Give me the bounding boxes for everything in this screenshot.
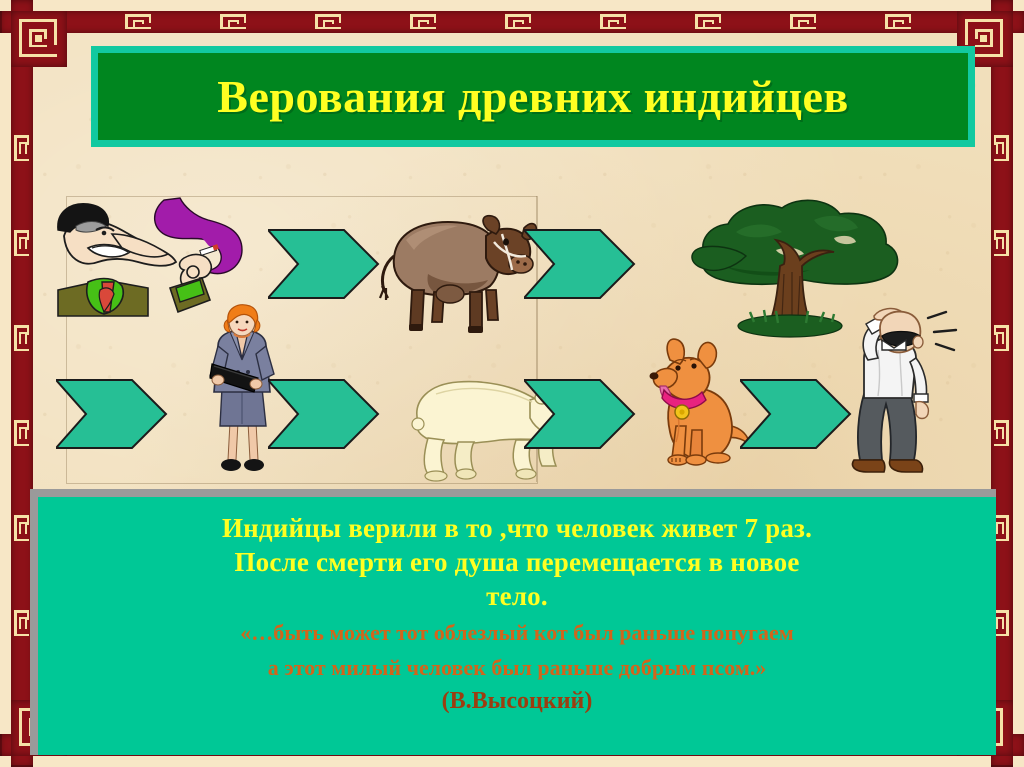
border-motif-unit [994, 230, 1009, 256]
quote-attribution: (В.Высоцкий) [60, 685, 974, 717]
figure-puzzled-man [842, 306, 972, 484]
arrow-1 [268, 228, 380, 300]
statement-line-1: Индийцы верили в то ,что человек живет 7… [60, 511, 974, 545]
border-motif-unit [885, 14, 911, 29]
border-motif-unit [994, 610, 1009, 636]
border-motif-unit [220, 14, 246, 29]
arrow-6 [740, 378, 852, 450]
border-motif-unit [14, 230, 29, 256]
border-motif-unit [994, 420, 1009, 446]
border-motif-unit [14, 420, 29, 446]
arrow-4 [268, 378, 380, 450]
page-title: Верования древних индийцев [217, 70, 848, 123]
border-motif-unit [994, 325, 1009, 351]
border-motif-unit [14, 325, 29, 351]
border-motif-unit [994, 135, 1009, 161]
arrow-2 [524, 228, 636, 300]
border-motif-top [0, 11, 1024, 33]
slide: Верования древних индийцев [0, 0, 1024, 767]
arrow-5 [524, 378, 636, 450]
text-panel: Индийцы верили в то ,что человек живет 7… [30, 489, 996, 755]
border-motif-unit [994, 515, 1009, 541]
title-banner-inner: Верования древних индийцев [98, 53, 968, 140]
border-motif-unit [790, 14, 816, 29]
border-motif-unit [600, 14, 626, 29]
border-motif-unit [125, 14, 151, 29]
border-corner-top-left [11, 11, 67, 67]
border-motif-unit [14, 515, 29, 541]
statement-line-2: После смерти его душа перемещается в нов… [60, 545, 974, 579]
quote-line-2: а этот милый человек был раньше добрым п… [60, 652, 974, 683]
statement-line-3: тело. [60, 579, 974, 613]
border-motif-unit [14, 135, 29, 161]
border-motif-unit [410, 14, 436, 29]
border-motif-unit [695, 14, 721, 29]
figure-dog [636, 330, 756, 480]
quote-line-1: «…быть может тот облезлый кот был раньше… [60, 617, 974, 648]
title-banner: Верования древних индийцев [91, 46, 975, 147]
border-motif-unit [505, 14, 531, 29]
border-motif-unit [315, 14, 341, 29]
arrow-3 [56, 378, 168, 450]
border-motif-unit [14, 610, 29, 636]
figure-cow [378, 200, 538, 340]
